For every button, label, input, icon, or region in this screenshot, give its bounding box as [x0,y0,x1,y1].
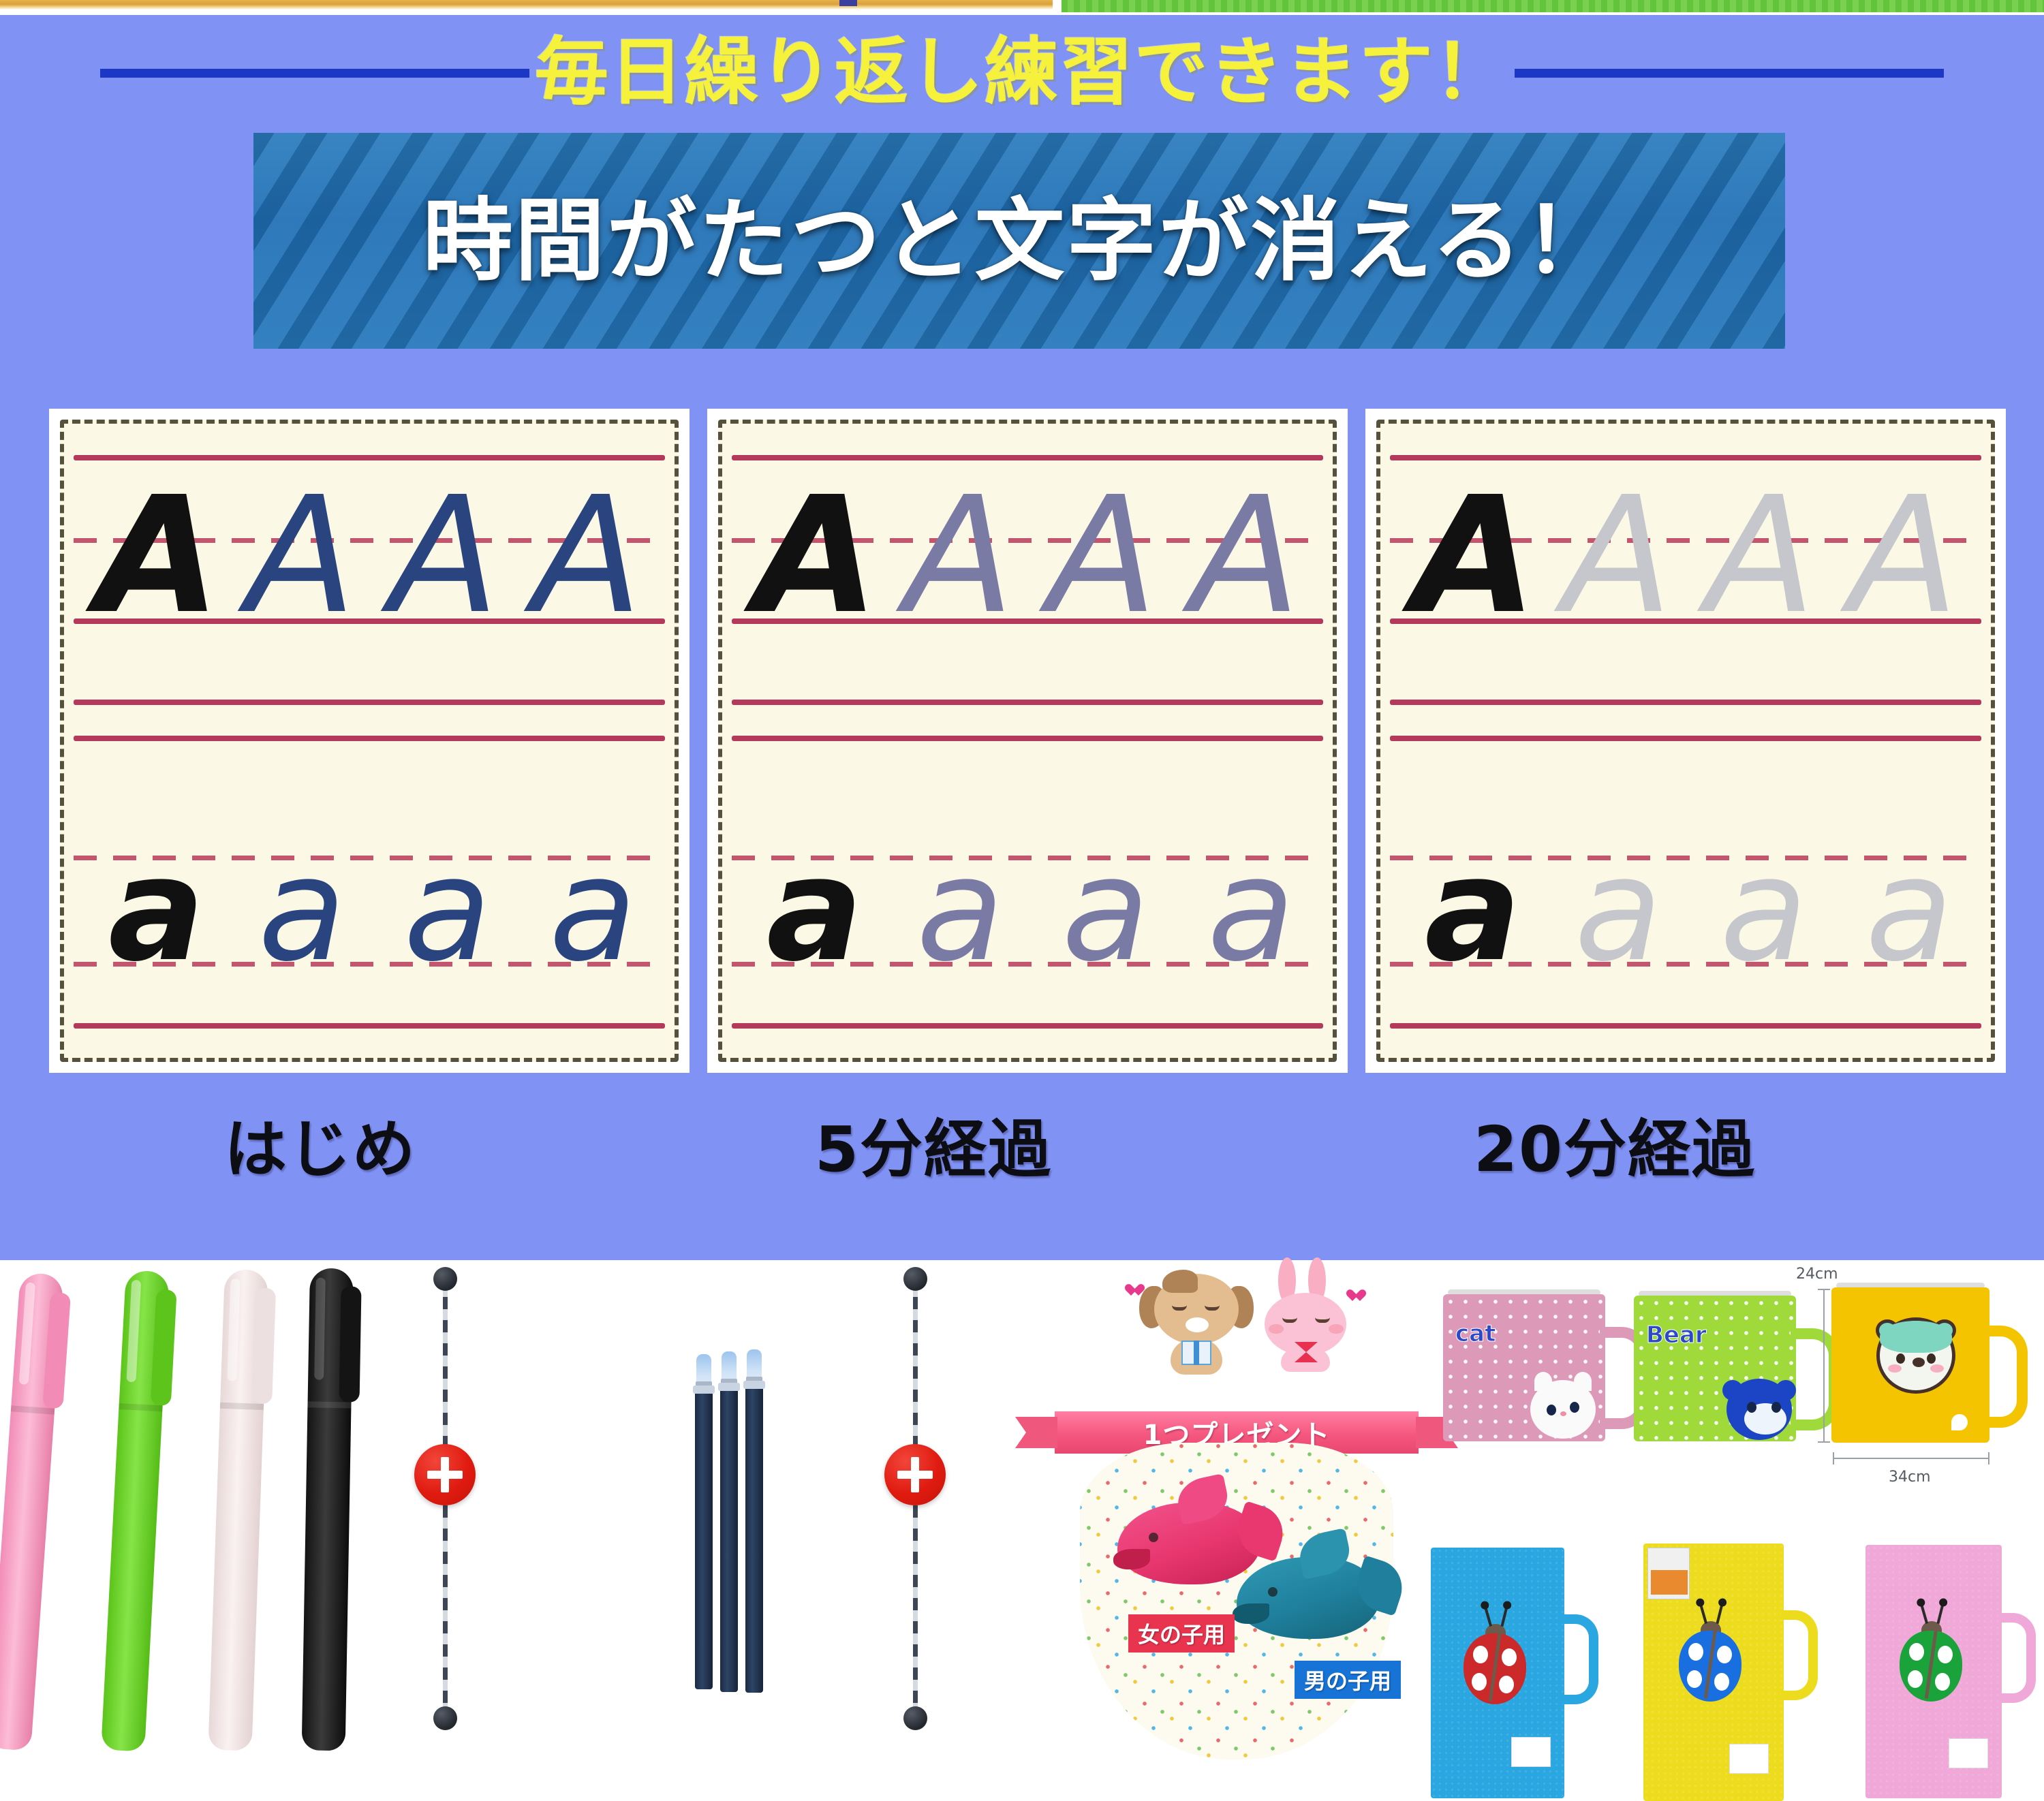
ribbon-tail-left [1015,1417,1057,1448]
ladybug-spot [1714,1673,1729,1691]
plus-icon-vertical [441,1457,449,1492]
ladybug-spot [1717,1646,1732,1663]
uppercase-letter-row: A A A A [90,444,660,629]
ladybug-spot [1472,1673,1487,1691]
letter-glyph: A [891,482,1027,629]
girl-variant-tag: 女の子用 [1128,1614,1235,1653]
bear-ear-left [1722,1380,1743,1400]
worksheet-card-1: A A A A a a a a [49,409,690,1073]
rule-solid-divider-a [74,700,665,705]
ladybug-icon [1464,1633,1526,1704]
ladybug-antenna-right [1500,1606,1508,1627]
bag-label-patch [1949,1738,1988,1768]
headline-text: 毎日繰り返し練習できます！ [535,36,1509,110]
bag-handle [1562,1614,1598,1704]
letter-glyph: a [1406,844,1540,975]
ladybug-spot [1499,1676,1514,1693]
uppercase-letter-row: A A A A [748,444,1318,629]
ink-refill [695,1390,713,1689]
pen-clip [42,1292,71,1409]
ladybug-spot [1687,1670,1702,1688]
bear-eye-left [1896,1353,1905,1364]
bear-nose [1913,1358,1925,1367]
heart-icon [1352,1290,1366,1302]
dolphin-eye [1268,1587,1277,1597]
letter-glyph: a [894,844,1027,975]
rabbit-cheek-left [1269,1324,1284,1334]
letter-glyph: a [1843,844,1977,975]
letter-glyph: a [90,844,223,975]
plus-badge-icon [414,1444,476,1505]
dog-gift-ribbon [1194,1341,1199,1365]
letter-glyph: A [1549,482,1686,629]
width-dimension-cap-left [1833,1452,1834,1465]
plus-badge-icon [884,1444,946,1505]
feature-banner-text: 時間がたつと文字が消える！ [422,196,1615,286]
letter-glyph: a [236,844,369,975]
green-pen [101,1270,170,1751]
height-dimension-cap-top [1818,1289,1830,1290]
refill-collar [743,1381,765,1389]
worksheet-caption-1: はじめ [0,1118,640,1181]
letter-glyph: A [233,482,369,629]
yellow-bear-bag [1831,1287,1989,1443]
hang-tag [1647,1548,1690,1599]
letter-glyph: a [527,844,660,975]
white-pen [208,1269,268,1751]
pen-band [119,1403,162,1411]
letter-glyph: A [1034,482,1171,629]
worksheet-paper-1: A A A A a a a a [60,420,679,1062]
pen-clip [151,1289,177,1406]
letter-glyph: A [1177,482,1314,629]
cat-ear-right [1574,1372,1592,1391]
lowercase-letter-row: a a a a [748,819,1318,975]
worksheet-caption-2: 5分経過 [613,1118,1254,1181]
headline-rule-left [100,69,529,78]
letter-glyph: a [1039,844,1173,975]
letter-glyph: a [1552,844,1686,975]
lowercase-letter-row: a a a a [90,819,660,975]
cat-eye-right [1570,1402,1579,1413]
worksheet-card-2: A A A A a a a a [707,409,1348,1073]
worksheet-paper-3: A A A A a a a a [1376,420,1995,1062]
height-dimension-line [1823,1289,1825,1443]
plus-badge-group-2 [884,1274,946,1723]
dolphin-eye [1149,1533,1158,1542]
bear-cheek-left [1888,1364,1902,1373]
bear-eye-right [1927,1353,1936,1364]
hang-tag-sticker [1651,1570,1688,1595]
product-band: 1つプレゼント 女の子用 男の子用 cat [0,1260,2044,1776]
height-dimension-text: 24cm [1796,1266,1838,1283]
heart-icon [1131,1285,1145,1297]
rule-solid-bottom [732,1023,1323,1029]
previous-section-sliver [0,0,2044,15]
pen-sheen [227,1279,240,1381]
bag-label-patch [1729,1744,1769,1774]
pen-sheen [314,1278,326,1380]
ladybug-icon [1900,1631,1962,1702]
feature-banner: 時間がたつと文字が消える！ [253,133,1785,349]
bear-eye-right [1771,1402,1781,1413]
cat-bag: cat [1443,1294,1605,1441]
dog-snout [1186,1317,1209,1332]
rule-solid-divider-b [1390,736,1981,741]
ladybug-spot [1938,1646,1953,1663]
worksheet-paper-2: A A A A a a a a [718,420,1337,1062]
refill-collar [718,1383,740,1391]
ladybug-icon [1679,1631,1741,1702]
bag-label-patch [1511,1737,1551,1767]
letter-glyph: A [376,482,512,629]
plus-badge-group-1 [414,1274,476,1723]
width-dimension-text: 34cm [1889,1469,1931,1486]
pink-ladybug-bag [1865,1545,2002,1798]
plus-icon-vertical [911,1457,919,1492]
bear-bag-label: Bear [1646,1321,1707,1349]
ink-refill [720,1387,738,1692]
uppercase-letter-row: A A A A [1406,444,1976,629]
letter-glyph: A [90,482,226,629]
ladybug-spot [1688,1643,1703,1661]
cat-nose [1560,1411,1566,1416]
letter-glyph: A [748,482,884,629]
blue-ladybug-bag [1431,1548,1564,1798]
rule-solid-divider-b [732,736,1323,741]
letter-glyph: a [1185,844,1318,975]
gold-strip-nub [839,0,857,6]
rule-solid-bottom [1390,1023,1981,1029]
blue-dolphin-toy [1237,1557,1380,1639]
ladybug-spot [1935,1673,1950,1691]
ladybug-spot [1909,1643,1924,1661]
blue-bear-face [1726,1379,1792,1440]
bear-forehead [1880,1321,1952,1353]
letter-glyph: A [1836,482,1972,629]
rabbit-cheek-right [1329,1324,1344,1334]
letter-glyph: a [1697,844,1831,975]
headline-row: 毎日繰り返し練習できます！ [0,29,2044,117]
bear-ear-right [1776,1380,1796,1400]
pen-sheen [126,1280,141,1383]
bag-handle [1781,1610,1818,1700]
hero-section: 毎日繰り返し練習できます！ 時間がたつと文字が消える！ A A A A a a [0,15,2044,1260]
worksheet-caption-3: 20分経過 [1295,1118,1935,1181]
letter-glyph: A [1692,482,1829,629]
dog-forelock [1162,1270,1198,1293]
refill-collar [693,1385,715,1394]
dolphin-mouth [1233,1603,1269,1624]
white-cat-face [1530,1380,1596,1439]
worksheet-card-3: A A A A a a a a [1365,409,2006,1073]
pink-pen [0,1272,64,1751]
width-dimension-line [1833,1458,1989,1459]
height-dimension-cap-bottom [1818,1441,1830,1443]
pen-sheen [19,1282,35,1385]
ladybug-spot [1502,1648,1517,1666]
yellow-ladybug-bag [1643,1544,1784,1801]
connector-knob-bottom [433,1706,457,1730]
letter-glyph: a [381,844,514,975]
pen-band [220,1403,264,1410]
letter-glyph: A [519,482,655,629]
rule-solid-divider-a [732,700,1323,705]
connector-knob-bottom [903,1706,927,1730]
ladybug-spot [1908,1670,1923,1688]
ladybug-antenna-right [1716,1603,1723,1624]
pen-clip [251,1287,276,1404]
cat-bag-label: cat [1455,1320,1496,1347]
headline-rule-right [1515,69,1944,78]
black-pen [302,1268,354,1751]
ladybug-antenna-left [1920,1603,1928,1624]
connector-knob-top [903,1267,927,1291]
gold-strip [0,0,1053,10]
bag-handle [1999,1613,2036,1703]
cat-ear-left [1534,1372,1552,1391]
rule-solid-divider-a [1390,700,1981,705]
bear-cheek-right [1930,1364,1944,1373]
bear-bag: Bear [1634,1296,1796,1441]
bag-brand-patch [1951,1414,1968,1430]
cat-eye-left [1547,1405,1556,1415]
rule-solid-bottom [74,1023,665,1029]
teal-bear-face [1876,1317,1955,1394]
ladybug-spot [1473,1646,1488,1663]
bag-handle [1979,1326,2028,1428]
ladybug-antenna-left [1699,1603,1707,1624]
dolphin-mouth [1113,1549,1150,1569]
ink-refill [745,1385,763,1693]
boy-variant-tag: 男の子用 [1295,1661,1401,1699]
letter-glyph: a [748,844,882,975]
pen-clip [339,1286,362,1402]
pen-band [307,1401,351,1408]
green-strip [1062,0,2044,12]
connector-knob-top [433,1267,457,1291]
width-dimension-cap-right [1988,1452,1989,1465]
dog-mascot [1142,1270,1251,1372]
ladybug-antenna-right [1936,1603,1944,1624]
bear-eye-left [1747,1402,1756,1413]
lowercase-letter-row: a a a a [1406,819,1976,975]
rabbit-mascot [1255,1259,1357,1368]
rule-solid-divider-b [74,736,665,741]
ladybug-antenna-left [1484,1606,1492,1627]
letter-glyph: A [1406,482,1543,629]
